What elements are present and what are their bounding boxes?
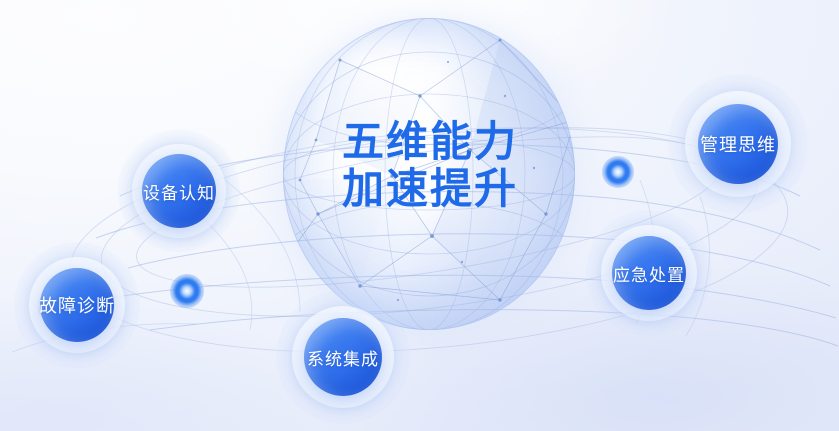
capability-node-yingji[interactable]: 应急处置 — [586, 210, 712, 336]
capability-node-label: 应急处置 — [613, 261, 685, 286]
capability-node-label: 管理思维 — [700, 131, 776, 157]
infographic-canvas: 五维能力 加速提升 设备认知 故障诊断 系统集成 应急处置 管理思维 — [0, 0, 839, 431]
orbit-spark-left — [170, 274, 204, 308]
capability-node-label: 设备认知 — [143, 179, 215, 204]
capability-node-guanli[interactable]: 管理思维 — [668, 74, 808, 214]
capability-node-label: 故障诊断 — [39, 292, 115, 318]
headline-line-1: 五维能力 — [342, 118, 518, 165]
orbit-spark-right — [602, 156, 634, 188]
capability-node-label: 系统集成 — [307, 345, 379, 370]
page-title: 五维能力 加速提升 — [300, 118, 560, 212]
capability-node-shebei[interactable]: 设备认知 — [118, 130, 240, 252]
capability-node-guzhang[interactable]: 故障诊断 — [14, 242, 140, 368]
headline-line-2: 加速提升 — [300, 165, 560, 212]
capability-node-xitong[interactable]: 系统集成 — [276, 290, 410, 424]
